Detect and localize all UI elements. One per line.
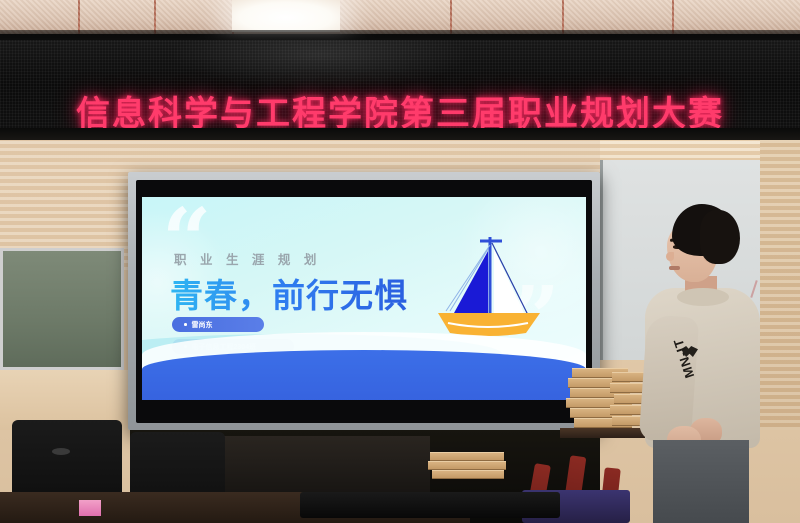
- presenter-name: 雷尚东: [192, 320, 213, 330]
- slide-subtitle: 职 业 生 涯 规 划: [174, 249, 321, 268]
- chalkboard: [0, 248, 124, 370]
- presenter: MN-IT: [645, 204, 770, 523]
- presenter-nose: [666, 252, 674, 261]
- classroom-photo-scene: 信息科学与工程学院第三届职业规划大赛 “ ” 职 业 生 涯 规 划 青春，前行…: [0, 0, 800, 523]
- presenter-collar: [677, 288, 729, 306]
- presenter-sleeve: [639, 314, 700, 443]
- presentation-slide: “ ” 职 业 生 涯 规 划 青春，前行无惧 雷尚东 电子信息工程2304班: [142, 197, 586, 400]
- ceiling: [0, 0, 800, 34]
- slide-badge-presenter: 雷尚东: [172, 317, 264, 332]
- chair-handle: [52, 448, 70, 455]
- bullet-dot-icon: [184, 323, 187, 326]
- presenter-hair-back: [700, 210, 740, 264]
- wave-blue: [142, 350, 586, 400]
- presenter-trousers: [653, 440, 749, 523]
- slide-title: 青春，前行无惧: [170, 269, 408, 317]
- led-banner: 信息科学与工程学院第三届职业规划大赛: [0, 40, 800, 138]
- ceiling-light-panel: [232, 0, 340, 32]
- led-glow: [170, 40, 470, 90]
- pink-name-card: [79, 500, 101, 516]
- cable-bundle: [300, 492, 560, 518]
- presenter-mouth: [669, 266, 680, 270]
